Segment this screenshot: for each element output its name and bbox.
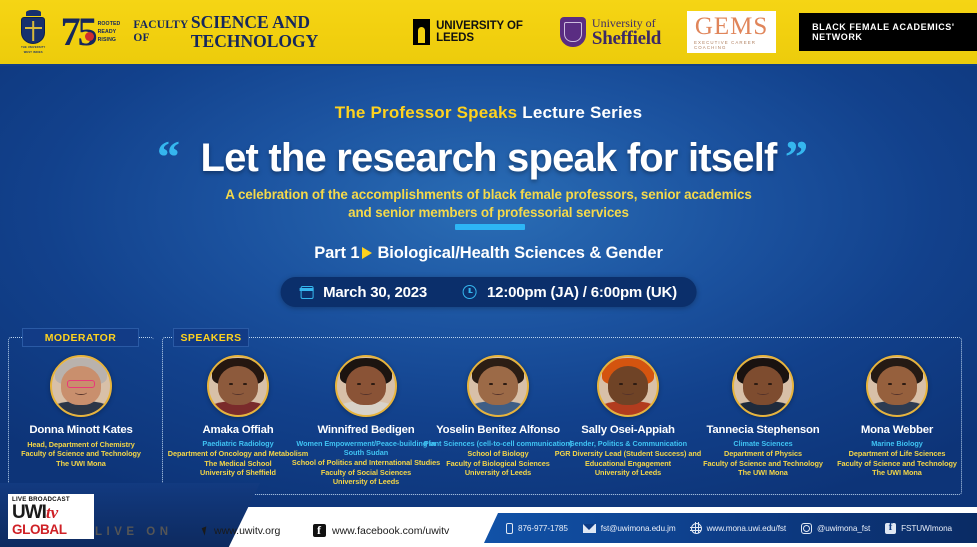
speaker-field: Gender, Politics & Communication xyxy=(553,439,703,448)
tab-moderator[interactable]: MODERATOR xyxy=(22,328,139,347)
eyeglasses-icon xyxy=(67,380,95,388)
avatar xyxy=(335,355,397,417)
sheffield-line-2: Sheffield xyxy=(592,29,661,48)
moderator-affiliation: Head, Department of Chemistry Faculty of… xyxy=(6,440,156,468)
slogan-line-3: RISING xyxy=(98,36,121,44)
gems-wordmark: GEMS xyxy=(695,15,768,39)
speaker-affiliation: Department of Life Sciences Faculty of S… xyxy=(822,449,972,477)
speaker-field: Climate Sciences xyxy=(688,439,838,448)
facebook-icon xyxy=(313,524,326,537)
contact-facebook[interactable]: FSTUWImona xyxy=(885,523,952,534)
moderator-card[interactable]: Donna Minott Kates Head, Department of C… xyxy=(6,355,156,468)
crest-cap-icon xyxy=(26,10,41,16)
speaker-card-winnifred-bedigen[interactable]: Winnifred Bedigen Women Empowerment/Peac… xyxy=(291,355,441,487)
speaker-card-yoselin-benitez-alfonso[interactable]: Yoselin Benitez Alfonso Plant Sciences (… xyxy=(423,355,573,478)
gems-logo: GEMS EXECUTIVE CAREER COACHING xyxy=(687,11,776,54)
avatar xyxy=(732,355,794,417)
anniversary-75-logo: 75 ROOTED READY RISING xyxy=(61,15,121,49)
speaker-name: Yoselin Benitez Alfonso xyxy=(423,424,573,437)
uwi-crest-logo: THE UNIVERSITY WEST INDIES xyxy=(17,9,50,55)
event-poster: THE UNIVERSITY WEST INDIES 75 ROOTED REA… xyxy=(0,0,977,547)
slogan-line-2: READY xyxy=(98,28,121,36)
gems-tagline: EXECUTIVE CAREER COACHING xyxy=(694,40,769,50)
speaker-card-sally-osei-appiah[interactable]: Sally Osei-Appiah Gender, Politics & Com… xyxy=(553,355,703,478)
speaker-name: Winnifred Bedigen xyxy=(291,424,441,437)
instagram-icon xyxy=(801,523,812,534)
calendar-icon xyxy=(300,286,313,299)
faculty-line-2: SCIENCE AND TECHNOLOGY xyxy=(191,13,385,52)
uwitv-website-link[interactable]: www.uwitv.org xyxy=(203,525,280,537)
uwitv-wordmark: UWI xyxy=(12,503,46,522)
series-title-rest: Lecture Series xyxy=(517,103,642,122)
contact-phone[interactable]: 876-977-1785 xyxy=(506,523,568,534)
uwitv-facebook-text: www.facebook.com/uwitv xyxy=(332,525,449,537)
slogan-line-1: ROOTED xyxy=(98,20,121,28)
contact-website[interactable]: www.mona.uwi.edu/fst xyxy=(691,523,786,534)
contact-email[interactable]: fst@uwimona.edu.jm xyxy=(583,524,676,533)
speaker-field: Women Empowerment/Peace-building in Sout… xyxy=(291,439,441,458)
contact-bar: 876-977-1785 fst@uwimona.edu.jm www.mona… xyxy=(484,513,977,543)
tab-speakers[interactable]: SPEAKERS xyxy=(173,328,249,347)
uwitv-facebook-link[interactable]: www.facebook.com/uwitv xyxy=(313,524,449,537)
speaker-name: Sally Osei-Appiah xyxy=(553,424,703,437)
part-number: Part 1 xyxy=(314,244,359,262)
anniversary-number: 75 xyxy=(61,15,95,49)
anniversary-slogan: ROOTED READY RISING xyxy=(98,20,121,44)
university-of-sheffield-logo: University of Sheffield xyxy=(560,17,661,48)
subtitle-line-1: A celebration of the accomplishments of … xyxy=(0,186,977,204)
avatar xyxy=(866,355,928,417)
datetime-pill: March 30, 2023 12:00pm (JA) / 6:00pm (UK… xyxy=(280,277,697,307)
contact-instagram[interactable]: @uwimona_fst xyxy=(801,523,870,534)
contact-email-text: fst@uwimona.edu.jm xyxy=(601,524,676,533)
subtitle-line-2: and senior members of professorial servi… xyxy=(0,204,977,222)
faculty-wordmark: FACULTY OF SCIENCE AND TECHNOLOGY xyxy=(133,13,385,52)
speaker-field: Marine Biology xyxy=(822,439,972,448)
clock-icon xyxy=(463,285,477,299)
uwi-crest-caption-2: WEST INDIES xyxy=(24,51,43,54)
uwi-crest-caption: THE UNIVERSITY xyxy=(21,46,45,49)
page-title: Let the research speak for itself xyxy=(0,136,977,181)
uwitv-global-logo: LIVE BROADCAST UWI tv GLOBAL xyxy=(8,494,94,540)
uwitv-website-text: www.uwitv.org xyxy=(214,525,280,537)
speaker-affiliation: School of Politics and International Stu… xyxy=(291,458,441,486)
uwitv-global-label: GLOBAL xyxy=(12,523,90,537)
avatar xyxy=(50,355,112,417)
shield-icon xyxy=(21,17,45,44)
event-date: March 30, 2023 xyxy=(323,284,427,301)
event-time: 12:00pm (JA) / 6:00pm (UK) xyxy=(487,284,677,301)
series-title-highlight: The Professor Speaks xyxy=(335,103,518,122)
university-of-leeds-logo: UNIVERSITY OF LEEDS xyxy=(413,19,534,45)
avatar xyxy=(207,355,269,417)
faculty-line-1: FACULTY OF xyxy=(133,19,190,44)
live-on-label: LIVE ON xyxy=(95,526,173,538)
part-topic: Biological/Health Sciences & Gender xyxy=(377,244,662,262)
contact-instagram-text: @uwimona_fst xyxy=(817,524,870,533)
lecture-series-line: The Professor Speaks Lecture Series xyxy=(0,103,977,123)
mail-icon xyxy=(583,524,596,533)
globe-icon xyxy=(691,523,702,534)
uwitv-tv-mark: tv xyxy=(46,504,58,521)
sheffield-line-1: University of xyxy=(592,17,661,29)
phone-icon xyxy=(506,523,513,534)
sheffield-shield-icon xyxy=(560,17,586,47)
moderator-name: Donna Minott Kates xyxy=(6,424,156,437)
leeds-label: UNIVERSITY OF LEEDS xyxy=(436,20,534,44)
section-divider xyxy=(455,224,525,230)
triangle-right-icon xyxy=(362,247,372,259)
facebook-icon xyxy=(885,523,896,534)
speaker-affiliation: Department of Physics Faculty of Science… xyxy=(688,449,838,477)
contact-facebook-text: FSTUWImona xyxy=(901,524,952,533)
avatar xyxy=(597,355,659,417)
leeds-mark-icon xyxy=(413,19,430,45)
speaker-card-tannecia-stephenson[interactable]: Tannecia Stephenson Climate Sciences Dep… xyxy=(688,355,838,478)
subtitle: A celebration of the accomplishments of … xyxy=(0,186,977,221)
speaker-card-mona-webber[interactable]: Mona Webber Marine Biology Department of… xyxy=(822,355,972,478)
speaker-name: Mona Webber xyxy=(822,424,972,437)
contact-website-text: www.mona.uwi.edu/fst xyxy=(707,524,786,533)
partner-logo-bar: THE UNIVERSITY WEST INDIES 75 ROOTED REA… xyxy=(0,0,977,66)
speaker-name: Tannecia Stephenson xyxy=(688,424,838,437)
speaker-affiliation: School of Biology Faculty of Biological … xyxy=(423,449,573,477)
part-topic-line: Part 1Biological/Health Sciences & Gende… xyxy=(0,244,977,263)
speaker-field: Plant Sciences (cell-to-cell communicati… xyxy=(423,439,573,448)
contact-phone-text: 876-977-1785 xyxy=(518,524,568,533)
black-female-academics-network-logo: BLACK FEMALE ACADEMICS' NETWORK xyxy=(799,13,977,51)
cursor-icon xyxy=(202,526,210,535)
avatar xyxy=(467,355,529,417)
speaker-affiliation: PGR Diversity Lead (Student Success) and… xyxy=(553,449,703,477)
